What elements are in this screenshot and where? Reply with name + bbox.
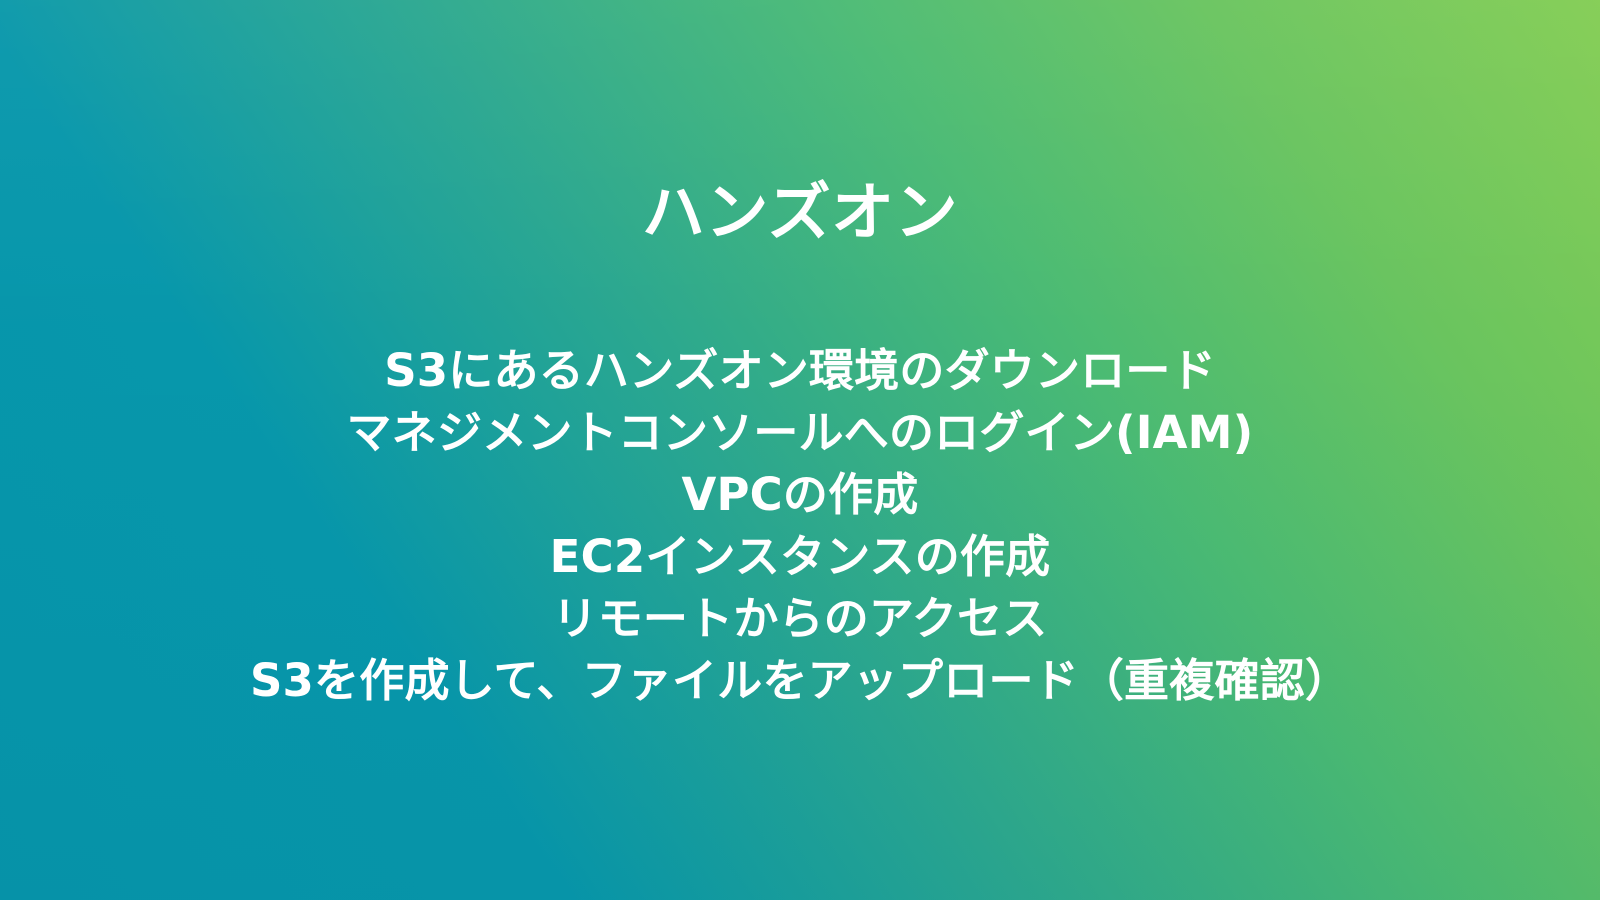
agenda-item: リモートからのアクセス: [0, 588, 1600, 650]
agenda-item: マネジメントコンソールへのログイン(IAM): [0, 402, 1600, 464]
presentation-slide: ハンズオン S3にあるハンズオン環境のダウンロード マネジメントコンソールへのロ…: [0, 0, 1600, 900]
agenda-item: S3を作成して、ファイルをアップロード（重複確認）: [0, 650, 1600, 712]
agenda-item: EC2インスタンスの作成: [0, 526, 1600, 588]
agenda-item: VPCの作成: [0, 464, 1600, 526]
agenda-item: S3にあるハンズオン環境のダウンロード: [0, 340, 1600, 402]
agenda-list: S3にあるハンズオン環境のダウンロード マネジメントコンソールへのログイン(IA…: [0, 340, 1600, 712]
slide-content: ハンズオン S3にあるハンズオン環境のダウンロード マネジメントコンソールへのロ…: [0, 0, 1600, 900]
slide-title: ハンズオン: [0, 181, 1600, 244]
